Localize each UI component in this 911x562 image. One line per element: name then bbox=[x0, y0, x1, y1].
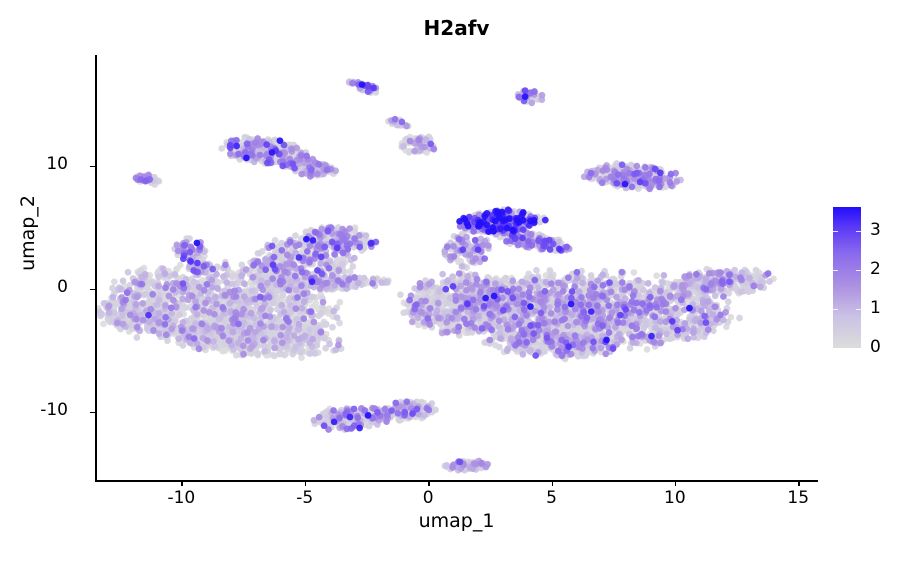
y-tick-mark bbox=[90, 412, 95, 413]
y-tick-mark bbox=[90, 289, 95, 290]
axis-spine-bottom bbox=[95, 480, 818, 482]
x-tick-label: 5 bbox=[522, 488, 582, 508]
x-tick-label: -10 bbox=[151, 488, 211, 508]
x-tick-mark bbox=[552, 481, 553, 486]
colorbar-tick-mark bbox=[833, 270, 838, 272]
x-tick-mark bbox=[181, 481, 182, 486]
figure-canvas: H2afv -10-5051015 100-10 umap_1 umap_2 0… bbox=[0, 0, 911, 562]
colorbar-tick-mark bbox=[833, 231, 838, 233]
colorbar-tick-mark bbox=[856, 270, 861, 272]
colorbar-gradient bbox=[833, 207, 861, 348]
y-axis-ticks: 100-10 bbox=[0, 0, 95, 562]
y-axis-label: umap_2 bbox=[17, 143, 39, 323]
page-title: H2afv bbox=[95, 16, 818, 40]
y-tick-label: -10 bbox=[8, 400, 68, 420]
colorbar-tick-label: 0 bbox=[870, 337, 881, 357]
x-tick-mark bbox=[305, 481, 306, 486]
x-tick-mark bbox=[428, 481, 429, 486]
colorbar-tick-label: 1 bbox=[870, 298, 881, 318]
x-tick-label: -5 bbox=[275, 488, 335, 508]
colorbar-tick-mark bbox=[833, 309, 838, 311]
colorbar-tick-mark bbox=[856, 231, 861, 233]
x-axis-label: umap_1 bbox=[95, 510, 818, 532]
x-tick-mark bbox=[798, 481, 799, 486]
colorbar-tick-mark bbox=[833, 348, 838, 350]
colorbar-tick-mark bbox=[856, 348, 861, 350]
x-tick-label: 15 bbox=[768, 488, 828, 508]
axis-spine-left bbox=[95, 55, 97, 481]
x-tick-mark bbox=[675, 481, 676, 486]
x-tick-label: 0 bbox=[398, 488, 458, 508]
colorbar-tick-label: 3 bbox=[870, 220, 881, 240]
colorbar-legend: 0123 bbox=[833, 207, 905, 352]
colorbar-tick-label: 2 bbox=[870, 259, 881, 279]
x-tick-label: 10 bbox=[645, 488, 705, 508]
scatter-plot-area bbox=[95, 55, 818, 481]
colorbar-tick-mark bbox=[856, 309, 861, 311]
scatter-points-canvas bbox=[95, 55, 818, 481]
y-tick-mark bbox=[90, 166, 95, 167]
